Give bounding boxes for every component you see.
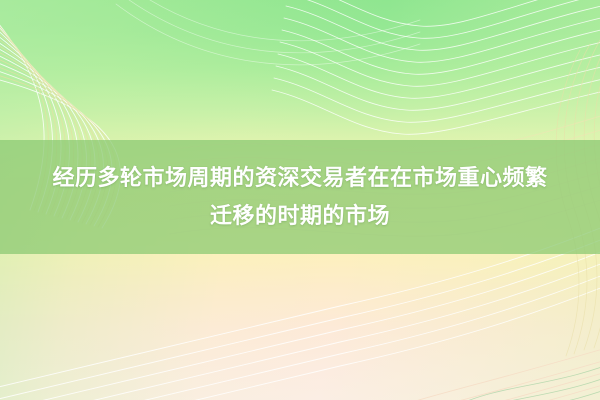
banner-root: 经历多轮市场周期的资深交易者在在市场重心频繁 迁移的时期的市场 bbox=[0, 0, 600, 400]
headline-line-1: 经历多轮市场周期的资深交易者在在市场重心频繁 bbox=[52, 159, 547, 197]
headline-band: 经历多轮市场周期的资深交易者在在市场重心频繁 迁移的时期的市场 bbox=[0, 140, 600, 254]
headline-line-2: 迁移的时期的市场 bbox=[210, 197, 390, 235]
